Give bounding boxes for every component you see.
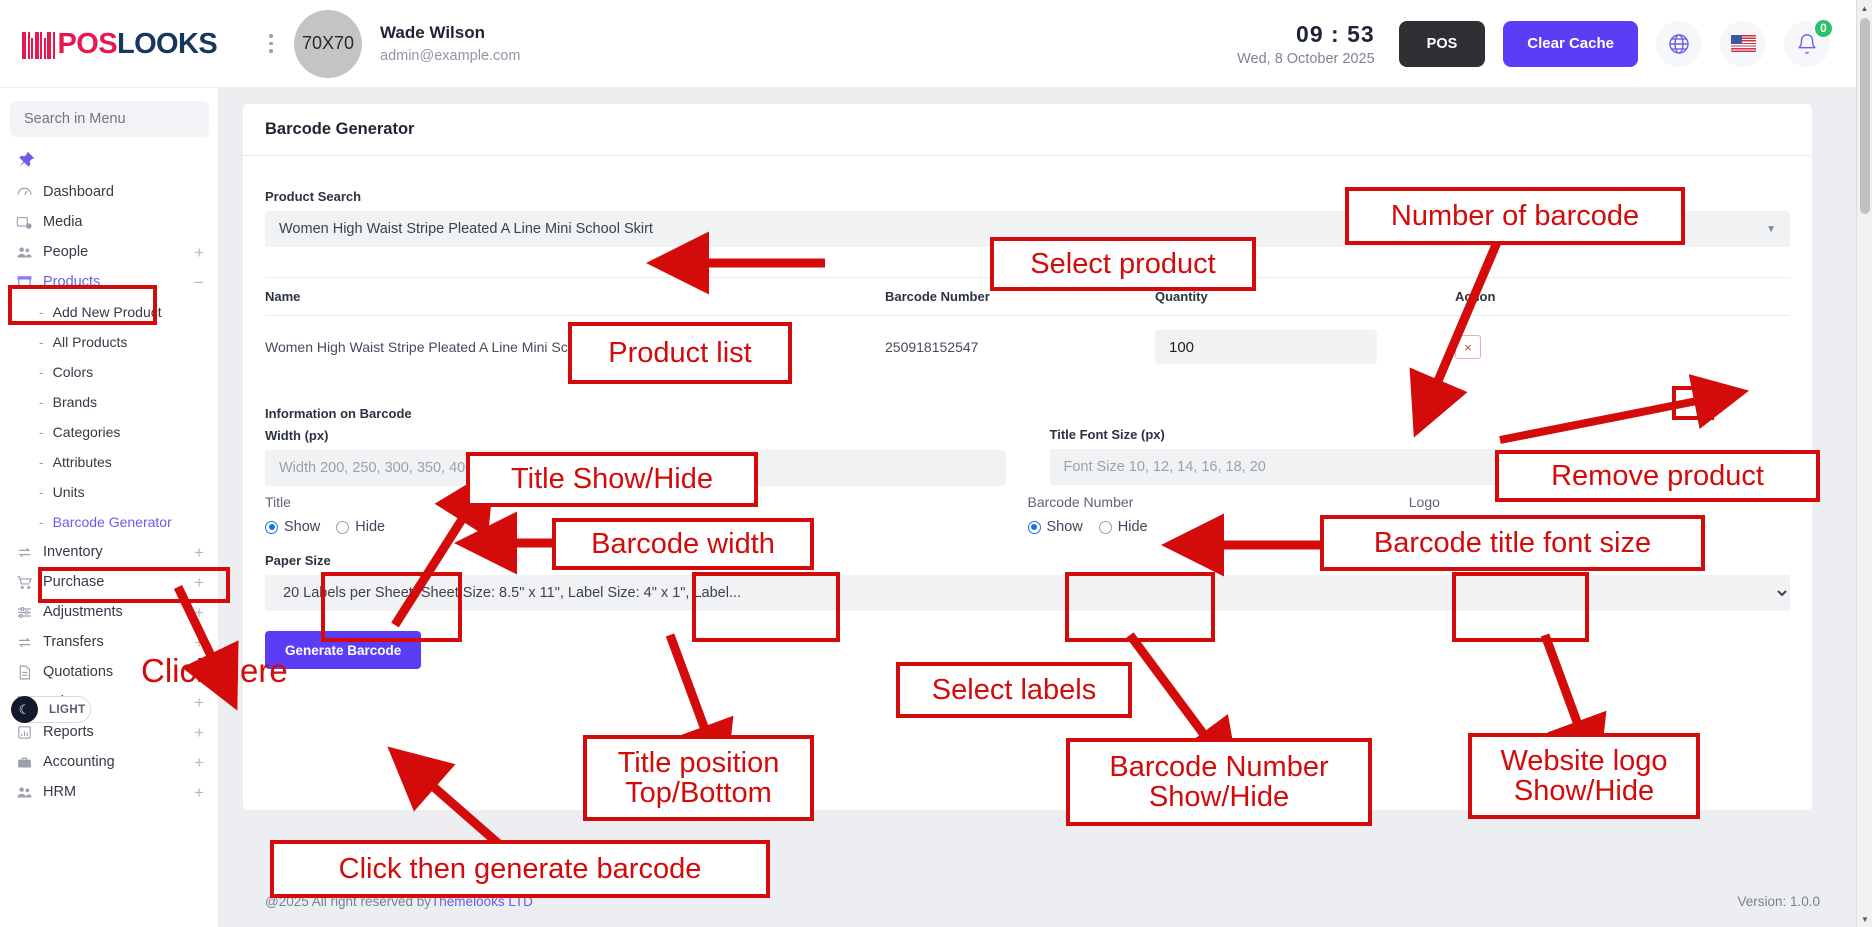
clock-time: 09 : 53 — [1237, 21, 1375, 48]
radio-label: Hide — [355, 519, 385, 535]
user-info: Wade Wilson admin@example.com — [380, 23, 520, 64]
product-table: Name Barcode Number Quantity Action Wome… — [265, 277, 1790, 378]
pos-button[interactable]: POS — [1399, 21, 1486, 67]
scroll-up-arrow-icon[interactable]: ▲ — [1857, 0, 1872, 16]
annotation-barcode-width: Barcode width — [552, 518, 814, 570]
dash-icon: - — [39, 424, 44, 440]
sidebar-subitem-label: Brands — [53, 394, 97, 410]
sidebar-subitem-all-products[interactable]: - All Products — [0, 327, 218, 357]
briefcase-icon — [16, 754, 43, 771]
sidebar-subitem-barcode-generator[interactable]: - Barcode Generator — [0, 507, 218, 537]
sidebar-item-label: HRM — [43, 784, 194, 800]
radio-barcode-number-hide[interactable]: Hide — [1099, 519, 1148, 535]
us-flag-icon[interactable] — [1720, 21, 1766, 67]
sidebar-subitem-brands[interactable]: - Brands — [0, 387, 218, 417]
sidebar-subitem-label: Units — [53, 484, 85, 500]
sidebar-item-dashboard[interactable]: Dashboard — [0, 177, 218, 207]
expand-indicator: + — [194, 784, 204, 801]
expand-indicator: + — [194, 694, 204, 711]
sidebar-item-label: Adjustments — [43, 604, 194, 620]
cell-quantity — [1155, 316, 1455, 379]
sidebar-item-label: Dashboard — [43, 184, 204, 200]
remove-product-button[interactable]: × — [1455, 335, 1481, 359]
sidebar-item-label: Inventory — [43, 544, 194, 560]
page-scrollbar[interactable]: ▲ ▼ — [1856, 0, 1872, 927]
sidebar-item-label: Reports — [43, 724, 194, 740]
notification-badge: 0 — [1813, 18, 1834, 39]
radio-label: Show — [1047, 519, 1083, 535]
expand-indicator: + — [194, 244, 204, 261]
pin-icon[interactable] — [0, 143, 218, 177]
people-icon — [16, 784, 43, 801]
expand-indicator: + — [194, 724, 204, 741]
sidebar-subitem-attributes[interactable]: - Attributes — [0, 447, 218, 477]
annotation-remove-product: Remove product — [1495, 450, 1820, 502]
dash-icon: - — [39, 484, 44, 500]
sidebar-subitem-label: Categories — [53, 424, 121, 440]
highlight-title-position-options — [692, 572, 840, 642]
sidebar-item-accounting[interactable]: Accounting + — [0, 747, 218, 777]
people-icon — [16, 244, 43, 261]
card-header: Barcode Generator — [243, 104, 1812, 156]
sidebar-item-label: People — [43, 244, 194, 260]
annotation-select-labels: Select labels — [896, 662, 1132, 718]
annotation-title-position: Title position Top/Bottom — [583, 735, 814, 821]
dash-icon: - — [39, 334, 44, 350]
language-globe-icon[interactable] — [1656, 21, 1702, 67]
sidebar-item-media[interactable]: Media — [0, 207, 218, 237]
brand-text-looks: LOOKS — [117, 30, 217, 59]
cell-action: × — [1455, 316, 1790, 379]
table-row: Women High Waist Stripe Pleated A Line M… — [265, 316, 1790, 379]
dash-icon: - — [39, 364, 44, 380]
highlight-products-menu — [8, 285, 157, 325]
clear-cache-button[interactable]: Clear Cache — [1503, 21, 1638, 67]
highlight-title-options — [321, 572, 462, 642]
radio-barcode-number-show[interactable]: Show — [1028, 519, 1083, 535]
annotation-barcode-title-font-size: Barcode title font size — [1320, 515, 1705, 571]
report-icon — [16, 724, 43, 741]
sidebar-item-hrm[interactable]: HRM + — [0, 777, 218, 807]
product-search-value: Women High Waist Stripe Pleated A Line M… — [279, 221, 653, 237]
column-name: Name — [265, 278, 885, 316]
gauge-icon — [16, 184, 43, 201]
barcode-icon — [22, 29, 55, 59]
brand-text-pos: POS — [58, 30, 117, 59]
collapse-indicator: − — [194, 274, 204, 291]
radio-label: Show — [284, 519, 320, 535]
scroll-down-arrow-icon[interactable]: ▼ — [1857, 911, 1872, 927]
annotation-click-here: Click here — [135, 648, 303, 694]
page-title: Barcode Generator — [265, 120, 414, 139]
sidebar-item-inventory[interactable]: Inventory + — [0, 537, 218, 567]
radio-icon — [1099, 521, 1112, 534]
user-name: Wade Wilson — [380, 23, 520, 43]
information-on-barcode-label: Information on Barcode — [265, 406, 1006, 421]
annotation-click-then-generate: Click then generate barcode — [270, 840, 770, 898]
dash-icon: - — [39, 454, 44, 470]
user-email: admin@example.com — [380, 48, 520, 64]
column-action: Action — [1455, 278, 1790, 316]
sidebar-subitem-categories[interactable]: - Categories — [0, 417, 218, 447]
document-icon — [16, 664, 43, 681]
sidebar: Dashboard Media — [0, 88, 219, 927]
highlight-barcode-generator-menu — [38, 567, 230, 603]
sidebar-subitem-colors[interactable]: - Colors — [0, 357, 218, 387]
annotation-barcode-number-show-hide: Barcode Number Show/Hide — [1066, 738, 1372, 826]
scrollbar-thumb[interactable] — [1860, 18, 1870, 214]
sliders-icon — [16, 604, 43, 621]
quantity-input[interactable] — [1155, 330, 1377, 364]
option-title-label: Barcode Number — [1028, 494, 1387, 510]
dash-icon: - — [39, 514, 44, 530]
transfer-icon — [16, 544, 43, 561]
cell-barcode-number: 250918152547 — [885, 316, 1155, 379]
radio-label: Hide — [1118, 519, 1148, 535]
sidebar-item-people[interactable]: People + — [0, 237, 218, 267]
expand-indicator: + — [194, 754, 204, 771]
sidebar-item-label: Accounting — [43, 754, 194, 770]
clock-date: Wed, 8 October 2025 — [1237, 51, 1375, 67]
theme-toggle[interactable]: ☾ LIGHT — [11, 696, 91, 723]
sidebar-subitem-label: Barcode Generator — [53, 514, 172, 530]
media-icon — [16, 214, 43, 231]
clock: 09 : 53 Wed, 8 October 2025 — [1237, 21, 1375, 67]
transfer-icon — [16, 634, 43, 651]
highlight-remove-button — [1672, 386, 1714, 420]
title-font-size-label: Title Font Size (px) — [1050, 427, 1791, 442]
sidebar-item-label: Media — [43, 214, 204, 230]
moon-icon: ☾ — [11, 696, 38, 723]
sidebar-subitem-label: Colors — [53, 364, 93, 380]
theme-toggle-label: LIGHT — [49, 704, 86, 716]
highlight-barcode-number-options — [1065, 572, 1215, 642]
notification-bell-icon[interactable]: 0 — [1784, 21, 1830, 67]
sidebar-subitem-label: All Products — [53, 334, 128, 350]
chevron-down-icon: ▼ — [1766, 224, 1776, 235]
annotation-website-logo-show-hide: Website logo Show/Hide — [1468, 733, 1700, 819]
more-options-icon[interactable] — [260, 24, 282, 64]
expand-indicator: + — [194, 604, 204, 621]
top-bar: POS LOOKS 70X70 Wade Wilson admin@exampl… — [0, 0, 1856, 88]
annotation-select-product: Select product — [990, 237, 1256, 291]
radio-icon — [1028, 521, 1041, 534]
highlight-logo-options — [1452, 572, 1589, 642]
annotation-number-of-barcode: Number of barcode — [1345, 187, 1685, 245]
radio-title-hide[interactable]: Hide — [336, 519, 385, 535]
radio-icon — [336, 521, 349, 534]
radio-title-show[interactable]: Show — [265, 519, 320, 535]
footer-version: Version: 1.0.0 — [1737, 894, 1820, 909]
radio-icon — [265, 521, 278, 534]
avatar[interactable]: 70X70 — [294, 10, 362, 78]
expand-indicator: + — [194, 544, 204, 561]
brand-logo[interactable]: POS LOOKS — [0, 29, 258, 59]
dash-icon: - — [39, 394, 44, 410]
sidebar-subitem-label: Attributes — [53, 454, 112, 470]
search-input[interactable] — [10, 101, 209, 137]
width-label: Width (px) — [265, 428, 1006, 443]
annotation-title-show-hide: Title Show/Hide — [466, 452, 758, 507]
sidebar-subitem-units[interactable]: - Units — [0, 477, 218, 507]
annotation-product-list: Product list — [568, 322, 792, 384]
